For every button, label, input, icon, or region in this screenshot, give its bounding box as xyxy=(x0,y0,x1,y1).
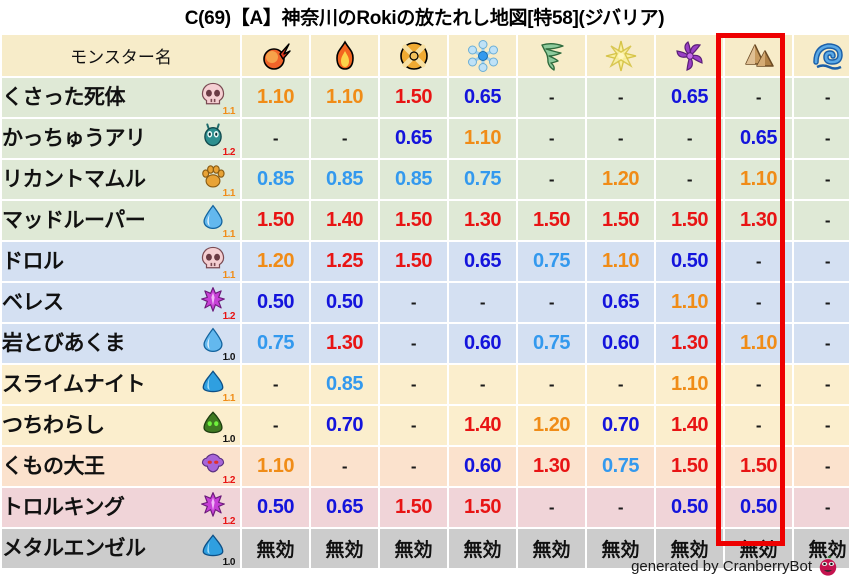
resistance-cell-water: - xyxy=(794,283,849,322)
header-element-explosion[interactable] xyxy=(380,35,447,76)
footer: generated by CranberryBot xyxy=(631,555,839,577)
resistance-cell-flame: 0.50 xyxy=(311,283,378,322)
resistance-cell-flame: 0.65 xyxy=(311,488,378,527)
bug-icon xyxy=(200,122,226,148)
resistance-cell-light: - xyxy=(587,365,654,404)
resistance-table: モンスター名くさった死体1.11.101.101.500.65--0.65--か… xyxy=(0,33,849,570)
monster-version: 1.1 xyxy=(223,230,235,240)
monster-name-cell[interactable]: リカントマムル1.1 xyxy=(2,160,240,199)
resistance-cell-flame: 1.30 xyxy=(311,324,378,363)
monster-type-icon-wrap: 1.2 xyxy=(198,286,234,320)
resistance-cell-ice: 1.10 xyxy=(449,119,516,158)
header-element-flame[interactable] xyxy=(311,35,378,76)
resistance-cell-dark: 1.50 xyxy=(656,447,723,486)
resistance-cell-fireball: 1.20 xyxy=(242,242,309,281)
resistance-cell-fireball: 0.75 xyxy=(242,324,309,363)
resistance-cell-wind: - xyxy=(518,119,585,158)
dark-swirl-icon xyxy=(674,40,706,72)
monster-version: 1.1 xyxy=(223,107,235,117)
resistance-cell-explosion: 0.65 xyxy=(380,119,447,158)
droplet-icon xyxy=(200,204,226,230)
resistance-cell-earth: - xyxy=(725,78,792,117)
resistance-cell-earth: 1.50 xyxy=(725,447,792,486)
resistance-cell-fireball: 0.50 xyxy=(242,488,309,527)
table-body: モンスター名くさった死体1.11.101.101.500.65--0.65--か… xyxy=(2,35,849,568)
monster-type-icon-wrap: 1.0 xyxy=(198,327,234,361)
monster-name-label: くさった死体 xyxy=(2,87,198,108)
monster-name-label: スライムナイト xyxy=(2,374,198,395)
resistance-cell-light: 0.60 xyxy=(587,324,654,363)
header-element-earth[interactable] xyxy=(725,35,792,76)
resistance-cell-wind: 無効 xyxy=(518,529,585,568)
wave-icon xyxy=(812,40,844,72)
resistance-cell-earth: 1.10 xyxy=(725,160,792,199)
resistance-cell-flame: 1.10 xyxy=(311,78,378,117)
resistance-cell-water: - xyxy=(794,242,849,281)
resistance-cell-ice: 0.60 xyxy=(449,324,516,363)
resistance-cell-earth: - xyxy=(725,365,792,404)
table-row: リカントマムル1.10.850.850.850.75-1.20-1.10- xyxy=(2,160,849,199)
header-monster-name: モンスター名 xyxy=(2,35,240,76)
resistance-cell-light: 0.65 xyxy=(587,283,654,322)
purple-spider-icon xyxy=(200,450,226,476)
resistance-cell-flame: 1.25 xyxy=(311,242,378,281)
resistance-cell-ice: 無効 xyxy=(449,529,516,568)
monster-type-icon-wrap: 1.1 xyxy=(198,81,234,115)
fireball-icon xyxy=(260,40,292,72)
explosion-icon xyxy=(398,40,430,72)
table-row: かっちゅうアリ1.2--0.651.10---0.65- xyxy=(2,119,849,158)
resistance-cell-dark: 0.65 xyxy=(656,78,723,117)
monster-name-cell[interactable]: トロルキング1.2 xyxy=(2,488,240,527)
monster-name-label: ドロル xyxy=(2,251,198,272)
snowflake-icon xyxy=(467,40,499,72)
page-root: C(69)【A】神奈川のRokiの放たれし地図[特58](ジバリア) モンスター… xyxy=(0,0,849,583)
resistance-cell-explosion: - xyxy=(380,283,447,322)
monster-version: 1.2 xyxy=(223,476,235,486)
monster-version: 1.2 xyxy=(223,312,235,322)
resistance-cell-wind: - xyxy=(518,283,585,322)
mountain-icon xyxy=(743,40,775,72)
slime-icon xyxy=(200,532,226,558)
trident-icon xyxy=(200,286,226,312)
resistance-cell-flame: 0.85 xyxy=(311,160,378,199)
header-element-ice[interactable] xyxy=(449,35,516,76)
resistance-cell-dark: 1.50 xyxy=(656,201,723,240)
resistance-cell-flame: 無効 xyxy=(311,529,378,568)
resistance-cell-water: - xyxy=(794,324,849,363)
resistance-cell-dark: 1.30 xyxy=(656,324,723,363)
trident-icon xyxy=(200,491,226,517)
skull-icon xyxy=(200,81,226,107)
header-element-water[interactable] xyxy=(794,35,849,76)
monster-name-cell[interactable]: くもの大王1.2 xyxy=(2,447,240,486)
monster-type-icon-wrap: 1.0 xyxy=(198,409,234,443)
resistance-cell-fireball: - xyxy=(242,365,309,404)
resistance-cell-earth: 0.65 xyxy=(725,119,792,158)
resistance-cell-dark: 1.40 xyxy=(656,406,723,445)
resistance-cell-explosion: - xyxy=(380,447,447,486)
table-row: つちわらし1.0-0.70-1.401.200.701.40-- xyxy=(2,406,849,445)
resistance-cell-earth: 0.50 xyxy=(725,488,792,527)
resistance-cell-dark: - xyxy=(656,160,723,199)
resistance-cell-flame: 0.85 xyxy=(311,365,378,404)
monster-name-label: リカントマムル xyxy=(2,169,198,190)
resistance-cell-light: 1.20 xyxy=(587,160,654,199)
resistance-cell-explosion: - xyxy=(380,406,447,445)
resistance-cell-water: - xyxy=(794,447,849,486)
resistance-cell-wind: - xyxy=(518,488,585,527)
resistance-cell-explosion: - xyxy=(380,324,447,363)
monster-version: 1.1 xyxy=(223,271,235,281)
monster-name-label: メタルエンゼル xyxy=(2,538,198,559)
resistance-cell-water: - xyxy=(794,365,849,404)
tornado-icon xyxy=(536,40,568,72)
monster-name-label: かっちゅうアリ xyxy=(2,128,198,149)
resistance-cell-explosion: 0.85 xyxy=(380,160,447,199)
resistance-cell-explosion: 1.50 xyxy=(380,242,447,281)
resistance-cell-water: - xyxy=(794,488,849,527)
resistance-cell-wind: 1.50 xyxy=(518,201,585,240)
monster-type-icon-wrap: 1.1 xyxy=(198,368,234,402)
table-row: マッドルーパー1.11.501.401.501.301.501.501.501.… xyxy=(2,201,849,240)
resistance-cell-ice: 1.40 xyxy=(449,406,516,445)
monster-type-icon-wrap: 1.0 xyxy=(198,532,234,566)
monster-version: 1.1 xyxy=(223,394,235,404)
monster-type-icon-wrap: 1.2 xyxy=(198,491,234,525)
resistance-cell-ice: - xyxy=(449,365,516,404)
resistance-cell-earth: - xyxy=(725,283,792,322)
resistance-cell-water: - xyxy=(794,160,849,199)
resistance-cell-light: 1.50 xyxy=(587,201,654,240)
monster-type-icon-wrap: 1.2 xyxy=(198,450,234,484)
table-row: 岩とびあくま1.00.751.30-0.600.750.601.301.10- xyxy=(2,324,849,363)
header-element-fireball[interactable] xyxy=(242,35,309,76)
resistance-cell-ice: 0.75 xyxy=(449,160,516,199)
resistance-cell-explosion: 1.50 xyxy=(380,201,447,240)
resistance-cell-fireball: 0.85 xyxy=(242,160,309,199)
resistance-cell-fireball: 0.50 xyxy=(242,283,309,322)
table-header-row: モンスター名 xyxy=(2,35,849,76)
monster-type-icon-wrap: 1.2 xyxy=(198,122,234,156)
droplet-icon xyxy=(200,327,226,353)
monster-type-icon-wrap: 1.1 xyxy=(198,204,234,238)
table-row: くさった死体1.11.101.101.500.65--0.65-- xyxy=(2,78,849,117)
resistance-cell-dark: 0.50 xyxy=(656,488,723,527)
resistance-cell-earth: - xyxy=(725,242,792,281)
resistance-cell-water: - xyxy=(794,78,849,117)
resistance-cell-ice: 0.60 xyxy=(449,447,516,486)
resistance-cell-wind: 1.20 xyxy=(518,406,585,445)
resistance-cell-earth: 1.30 xyxy=(725,201,792,240)
monster-type-icon-wrap: 1.1 xyxy=(198,245,234,279)
slime-icon xyxy=(200,368,226,394)
resistance-cell-fireball: 1.10 xyxy=(242,78,309,117)
monster-name-label: つちわらし xyxy=(2,415,198,436)
resistance-cell-light: - xyxy=(587,488,654,527)
resistance-cell-light: 1.10 xyxy=(587,242,654,281)
resistance-cell-dark: 1.10 xyxy=(656,365,723,404)
resistance-cell-light: - xyxy=(587,78,654,117)
skull-icon xyxy=(200,245,226,271)
resistance-cell-water: - xyxy=(794,119,849,158)
monster-name-cell[interactable]: ベレス1.2 xyxy=(2,283,240,322)
monster-name-cell[interactable]: くさった死体1.1 xyxy=(2,78,240,117)
table-row: ベレス1.20.500.50---0.651.10-- xyxy=(2,283,849,322)
monster-version: 1.1 xyxy=(223,189,235,199)
monster-version: 1.0 xyxy=(223,353,235,363)
monster-name-cell[interactable]: つちわらし1.0 xyxy=(2,406,240,445)
resistance-cell-explosion: - xyxy=(380,365,447,404)
monster-name-cell[interactable]: マッドルーパー1.1 xyxy=(2,201,240,240)
monster-version: 1.2 xyxy=(223,517,235,527)
monster-name-cell[interactable]: 岩とびあくま1.0 xyxy=(2,324,240,363)
paw-icon xyxy=(200,163,226,189)
resistance-cell-wind: - xyxy=(518,160,585,199)
monster-type-icon-wrap: 1.1 xyxy=(198,163,234,197)
resistance-cell-ice: - xyxy=(449,283,516,322)
table-row: スライムナイト1.1-0.85----1.10-- xyxy=(2,365,849,404)
monster-name-label: ベレス xyxy=(2,292,198,313)
resistance-cell-explosion: 無効 xyxy=(380,529,447,568)
resistance-cell-ice: 0.65 xyxy=(449,78,516,117)
resistance-cell-dark: 0.50 xyxy=(656,242,723,281)
cranberry-icon xyxy=(817,555,839,577)
monster-name-label: トロルキング xyxy=(2,497,198,518)
resistance-cell-wind: 0.75 xyxy=(518,324,585,363)
resistance-cell-light: 0.75 xyxy=(587,447,654,486)
resistance-cell-earth: - xyxy=(725,406,792,445)
resistance-cell-ice: 0.65 xyxy=(449,242,516,281)
resistance-cell-wind: - xyxy=(518,78,585,117)
green-slime-icon xyxy=(200,409,226,435)
resistance-cell-fireball: - xyxy=(242,406,309,445)
monster-version: 1.2 xyxy=(223,148,235,158)
page-title: C(69)【A】神奈川のRokiの放たれし地図[特58](ジバリア) xyxy=(0,0,849,33)
monster-name-cell[interactable]: スライムナイト1.1 xyxy=(2,365,240,404)
resistance-cell-dark: - xyxy=(656,119,723,158)
resistance-cell-flame: - xyxy=(311,119,378,158)
monster-name-label: くもの大王 xyxy=(2,456,198,477)
flame-icon xyxy=(329,40,361,72)
resistance-cell-ice: 1.30 xyxy=(449,201,516,240)
monster-version: 1.0 xyxy=(223,435,235,445)
resistance-cell-wind: 0.75 xyxy=(518,242,585,281)
resistance-cell-fireball: 1.10 xyxy=(242,447,309,486)
monster-version: 1.0 xyxy=(223,558,235,568)
monster-name-label: 岩とびあくま xyxy=(2,333,198,354)
resistance-cell-flame: 0.70 xyxy=(311,406,378,445)
resistance-cell-fireball: 無効 xyxy=(242,529,309,568)
resistance-cell-water: - xyxy=(794,406,849,445)
resistance-cell-explosion: 1.50 xyxy=(380,488,447,527)
resistance-cell-light: - xyxy=(587,119,654,158)
footer-label: generated by CranberryBot xyxy=(631,558,812,575)
header-element-wind[interactable] xyxy=(518,35,585,76)
resistance-cell-ice: 1.50 xyxy=(449,488,516,527)
resistance-cell-wind: 1.30 xyxy=(518,447,585,486)
monster-name-cell[interactable]: メタルエンゼル1.0 xyxy=(2,529,240,568)
table-row: ドロル1.11.201.251.500.650.751.100.50-- xyxy=(2,242,849,281)
monster-name-cell[interactable]: かっちゅうアリ1.2 xyxy=(2,119,240,158)
resistance-cell-flame: - xyxy=(311,447,378,486)
resistance-cell-fireball: 1.50 xyxy=(242,201,309,240)
header-element-dark[interactable] xyxy=(656,35,723,76)
resistance-cell-dark: 1.10 xyxy=(656,283,723,322)
header-element-light[interactable] xyxy=(587,35,654,76)
star-burst-icon xyxy=(605,40,637,72)
resistance-cell-explosion: 1.50 xyxy=(380,78,447,117)
resistance-cell-light: 0.70 xyxy=(587,406,654,445)
resistance-cell-water: - xyxy=(794,201,849,240)
resistance-cell-flame: 1.40 xyxy=(311,201,378,240)
resistance-cell-earth: 1.10 xyxy=(725,324,792,363)
resistance-cell-wind: - xyxy=(518,365,585,404)
monster-name-label: マッドルーパー xyxy=(2,210,198,231)
table-row: トロルキング1.20.500.651.501.50--0.500.50- xyxy=(2,488,849,527)
table-row: くもの大王1.21.10--0.601.300.751.501.50- xyxy=(2,447,849,486)
monster-name-cell[interactable]: ドロル1.1 xyxy=(2,242,240,281)
resistance-cell-fireball: - xyxy=(242,119,309,158)
